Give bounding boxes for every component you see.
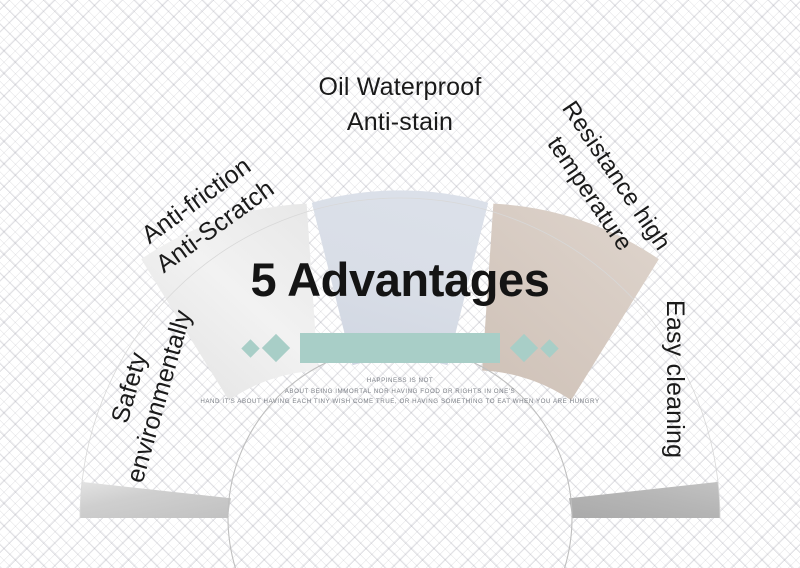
segment-label-oil-waterproof: Oil Waterproof Anti-stain [318,73,481,136]
infographic-canvas: Safety environmentally Anti-friction Ant… [0,0,800,568]
inner-circle [228,346,572,568]
advantages-wheel: Safety environmentally Anti-friction Ant… [0,0,800,568]
segment-easy-cleaning-shape[interactable] [569,482,720,518]
segment-label-line: Oil Waterproof [318,73,481,101]
segment-label-line: Easy cleaning [661,300,689,458]
segment-safety-environmentally-shape[interactable] [80,482,231,518]
segment-label-line: Anti-stain [347,108,453,136]
segment-label-easy-cleaning: Easy cleaning [661,300,689,458]
segment-oil-waterproof-shape[interactable] [312,190,488,365]
